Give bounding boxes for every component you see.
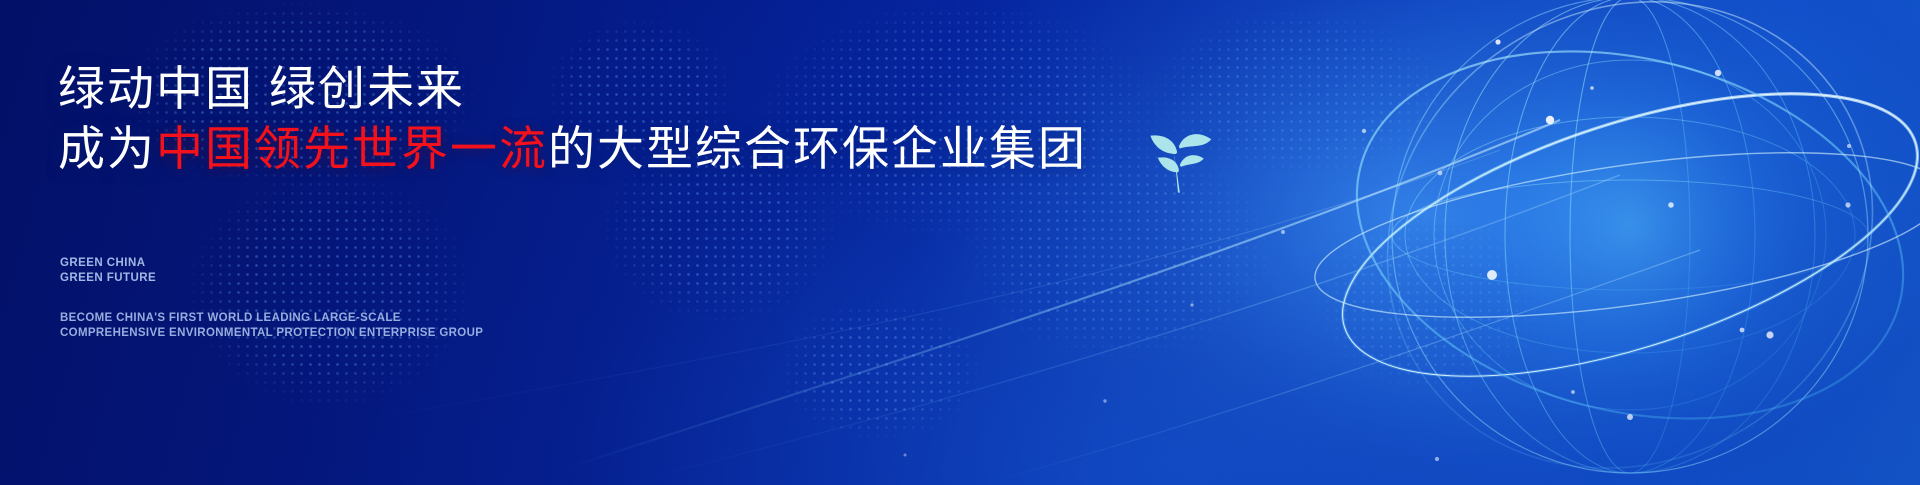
- description-line-1: BECOME CHINA'S FIRST WORLD LEADING LARGE…: [60, 311, 483, 326]
- globe-graphic: [1300, 0, 1920, 485]
- headline-line-2: 成为中国领先世界一流的大型综合环保企业集团: [58, 122, 1108, 176]
- headline-block: 绿动中国 绿创未来 成为中国领先世界一流的大型综合环保企业集团: [58, 62, 1108, 175]
- headline-line-1: 绿动中国 绿创未来: [58, 62, 1108, 116]
- headline-prefix: 成为: [58, 122, 156, 175]
- english-description-block: BECOME CHINA'S FIRST WORLD LEADING LARGE…: [60, 311, 483, 341]
- subtitle-line-2: GREEN FUTURE: [60, 271, 156, 286]
- hero-banner: 绿动中国 绿创未来 成为中国领先世界一流的大型综合环保企业集团 GREEN CH…: [0, 0, 1920, 485]
- english-subtitle-block: GREEN CHINA GREEN FUTURE: [60, 256, 156, 286]
- headline-highlight: 中国领先世界一流: [156, 122, 548, 175]
- sprout-leaf-icon: [1132, 108, 1224, 200]
- subtitle-line-1: GREEN CHINA: [60, 256, 156, 271]
- headline-suffix: 的大型综合环保企业集团: [548, 122, 1087, 175]
- description-line-2: COMPREHENSIVE ENVIRONMENTAL PROTECTION E…: [60, 326, 483, 341]
